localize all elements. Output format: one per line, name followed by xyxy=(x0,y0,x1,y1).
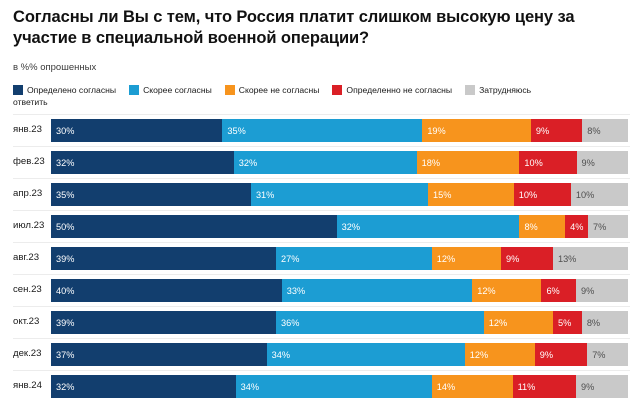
bar-segment-value: 30% xyxy=(51,125,74,137)
bar-segment-value: 10% xyxy=(571,189,594,201)
category-label: апр.23 xyxy=(13,187,47,200)
bar-segment[interactable]: 39% xyxy=(51,311,276,334)
bar-segment[interactable]: 10% xyxy=(571,183,628,206)
bar-segment[interactable]: 33% xyxy=(282,279,472,302)
stacked-bar: 32%34%14%11%9% xyxy=(51,375,628,398)
bar-segment[interactable]: 40% xyxy=(51,279,282,302)
row-divider xyxy=(13,338,630,339)
bar-segment[interactable]: 9% xyxy=(576,279,628,302)
legend-swatch-icon xyxy=(129,85,139,95)
legend-swatch-icon xyxy=(225,85,235,95)
legend-wrapped-tail: ответить xyxy=(13,97,48,108)
category-label: сен.23 xyxy=(13,283,47,296)
bar-segment-value: 32% xyxy=(51,381,74,393)
legend-swatch-icon xyxy=(465,85,475,95)
bar-segment-value: 32% xyxy=(51,157,74,169)
legend-item[interactable]: Скорее не согласны xyxy=(225,83,320,97)
legend-swatch-icon xyxy=(13,85,23,95)
legend-item[interactable]: Затрудняюсь xyxy=(465,83,531,97)
bar-segment[interactable]: 35% xyxy=(51,183,251,206)
bar-segment-value: 33% xyxy=(282,285,305,297)
bar-segment-value: 32% xyxy=(234,157,257,169)
bar-segment-value: 31% xyxy=(251,189,274,201)
bar-segment[interactable]: 7% xyxy=(587,343,628,366)
bar-segment[interactable]: 27% xyxy=(276,247,432,270)
bar-segment[interactable]: 15% xyxy=(428,183,514,206)
bar-segment[interactable]: 32% xyxy=(51,375,236,398)
bar-segment-value: 35% xyxy=(222,125,245,137)
chart-title: Согласны ли Вы с тем, что Россия платит … xyxy=(13,7,629,49)
bar-segment-value: 9% xyxy=(576,381,594,393)
bar-segment-value: 39% xyxy=(51,317,74,329)
bar-segment[interactable]: 35% xyxy=(222,119,422,142)
bar-segment[interactable]: 5% xyxy=(553,311,582,334)
bar-segment-value: 7% xyxy=(588,221,606,233)
bar-segment-value: 12% xyxy=(484,317,507,329)
stacked-bar: 40%33%12%6%9% xyxy=(51,279,628,302)
bar-segment-value: 8% xyxy=(519,221,537,233)
bar-segment-value: 37% xyxy=(51,349,74,361)
legend-item[interactable]: Скорее согласны xyxy=(129,83,212,97)
bar-segment-value: 13% xyxy=(553,253,576,265)
row-divider xyxy=(13,306,630,307)
bar-segment[interactable]: 32% xyxy=(337,215,520,238)
bar-segment-value: 8% xyxy=(582,317,600,329)
bar-segment[interactable]: 32% xyxy=(234,151,417,174)
bar-segment[interactable]: 30% xyxy=(51,119,222,142)
bar-segment[interactable]: 9% xyxy=(501,247,553,270)
bar-segment-value: 36% xyxy=(276,317,299,329)
bar-segment-value: 9% xyxy=(535,349,553,361)
legend-item-label: Скорее согласны xyxy=(143,85,212,96)
stacked-bar: 39%36%12%5%8% xyxy=(51,311,628,334)
category-label: авг.23 xyxy=(13,251,47,264)
chart-row: янв.2330%35%19%9%8% xyxy=(0,114,640,146)
bar-segment-value: 9% xyxy=(577,157,595,169)
bar-segment-value: 9% xyxy=(501,253,519,265)
bar-segment[interactable]: 8% xyxy=(582,119,628,142)
bar-segment[interactable]: 39% xyxy=(51,247,276,270)
bar-segment[interactable]: 50% xyxy=(51,215,337,238)
bar-segment-value: 14% xyxy=(432,381,455,393)
row-divider xyxy=(13,114,630,115)
bar-segment[interactable]: 34% xyxy=(236,375,432,398)
stacked-bar: 30%35%19%9%8% xyxy=(51,119,628,142)
row-divider xyxy=(13,370,630,371)
bar-segment[interactable]: 9% xyxy=(531,119,582,142)
stacked-bar: 39%27%12%9%13% xyxy=(51,247,628,270)
row-divider xyxy=(13,242,630,243)
bar-segment-value: 9% xyxy=(576,285,594,297)
bar-segment-value: 9% xyxy=(531,125,549,137)
chart-row: янв.2432%34%14%11%9% xyxy=(0,370,640,402)
bar-segment-value: 50% xyxy=(51,221,74,233)
bar-segment-value: 11% xyxy=(513,381,536,393)
stacked-bar: 50%32%8%4%7% xyxy=(51,215,628,238)
bar-segment-value: 4% xyxy=(565,221,583,233)
bar-segment[interactable]: 8% xyxy=(582,311,628,334)
row-divider xyxy=(13,210,630,211)
chart-row: июл.2350%32%8%4%7% xyxy=(0,210,640,242)
bar-segment-value: 10% xyxy=(519,157,542,169)
chart-row: сен.2340%33%12%6%9% xyxy=(0,274,640,306)
bar-segment[interactable]: 19% xyxy=(422,119,531,142)
bar-segment[interactable]: 10% xyxy=(514,183,571,206)
category-label: окт.23 xyxy=(13,315,47,328)
legend-item[interactable]: Определено согласны xyxy=(13,83,116,97)
bar-segment[interactable]: 11% xyxy=(513,375,576,398)
bar-segment-value: 40% xyxy=(51,285,74,297)
chart-container: Согласны ли Вы с тем, что Россия платит … xyxy=(0,0,640,412)
bar-segment-value: 18% xyxy=(417,157,440,169)
bar-segment-value: 39% xyxy=(51,253,74,265)
bar-segment[interactable]: 13% xyxy=(553,247,628,270)
bar-segment-value: 12% xyxy=(465,349,488,361)
bar-segment-value: 35% xyxy=(51,189,74,201)
legend-item-label: Определено согласны xyxy=(27,85,116,96)
bar-segment[interactable]: 9% xyxy=(576,375,628,398)
bar-segment-value: 32% xyxy=(337,221,360,233)
category-label: янв.24 xyxy=(13,379,47,392)
category-label: фев.23 xyxy=(13,155,47,168)
chart-row: авг.2339%27%12%9%13% xyxy=(0,242,640,274)
chart-plot-area: янв.2330%35%19%9%8%фев.2332%32%18%10%9%а… xyxy=(0,114,640,410)
legend-item-label: Определенно не согласны xyxy=(346,85,452,96)
row-divider xyxy=(13,146,630,147)
bar-segment-value: 15% xyxy=(428,189,451,201)
bar-segment[interactable]: 8% xyxy=(519,215,565,238)
bar-segment-value: 19% xyxy=(422,125,445,137)
chart-row: дек.2337%34%12%9%7% xyxy=(0,338,640,370)
bar-segment-value: 27% xyxy=(276,253,299,265)
bar-segment[interactable]: 31% xyxy=(251,183,428,206)
bar-segment-value: 6% xyxy=(541,285,559,297)
row-divider xyxy=(13,274,630,275)
bar-segment[interactable]: 37% xyxy=(51,343,267,366)
bar-segment[interactable]: 10% xyxy=(519,151,576,174)
bar-segment-value: 12% xyxy=(432,253,455,265)
chart-legend: Определено согласныСкорее согласныСкорее… xyxy=(13,83,633,97)
category-label: июл.23 xyxy=(13,219,47,232)
bar-segment[interactable]: 14% xyxy=(432,375,513,398)
bar-segment-value: 34% xyxy=(236,381,259,393)
chart-row: фев.2332%32%18%10%9% xyxy=(0,146,640,178)
bar-segment-value: 12% xyxy=(472,285,495,297)
bar-segment[interactable]: 9% xyxy=(535,343,587,366)
bar-segment[interactable]: 18% xyxy=(417,151,520,174)
bar-segment-value: 5% xyxy=(553,317,571,329)
chart-subtitle: в %% опрошенных xyxy=(13,62,96,74)
bar-segment[interactable]: 36% xyxy=(276,311,484,334)
bar-segment-value: 8% xyxy=(582,125,600,137)
stacked-bar: 37%34%12%9%7% xyxy=(51,343,628,366)
category-label: дек.23 xyxy=(13,347,47,360)
legend-item-label: Затрудняюсь xyxy=(479,85,531,96)
legend-item-label: Скорее не согласны xyxy=(239,85,320,96)
bar-segment[interactable]: 12% xyxy=(465,343,535,366)
category-label: янв.23 xyxy=(13,123,47,136)
chart-row: апр.2335%31%15%10%10% xyxy=(0,178,640,210)
bar-segment-value: 10% xyxy=(514,189,537,201)
bar-segment[interactable]: 32% xyxy=(51,151,234,174)
bar-segment[interactable]: 12% xyxy=(432,247,501,270)
legend-swatch-icon xyxy=(332,85,342,95)
bar-segment[interactable]: 7% xyxy=(588,215,628,238)
bar-segment-value: 34% xyxy=(267,349,290,361)
legend-item[interactable]: Определенно не согласны xyxy=(332,83,452,97)
bar-segment[interactable]: 34% xyxy=(267,343,465,366)
stacked-bar: 35%31%15%10%10% xyxy=(51,183,628,206)
bar-segment[interactable]: 4% xyxy=(565,215,588,238)
chart-row: окт.2339%36%12%5%8% xyxy=(0,306,640,338)
row-divider xyxy=(13,178,630,179)
stacked-bar: 32%32%18%10%9% xyxy=(51,151,628,174)
bar-segment-value: 7% xyxy=(587,349,605,361)
bar-segment[interactable]: 6% xyxy=(541,279,576,302)
bar-segment[interactable]: 12% xyxy=(484,311,553,334)
bar-segment[interactable]: 12% xyxy=(472,279,541,302)
bar-segment[interactable]: 9% xyxy=(577,151,628,174)
